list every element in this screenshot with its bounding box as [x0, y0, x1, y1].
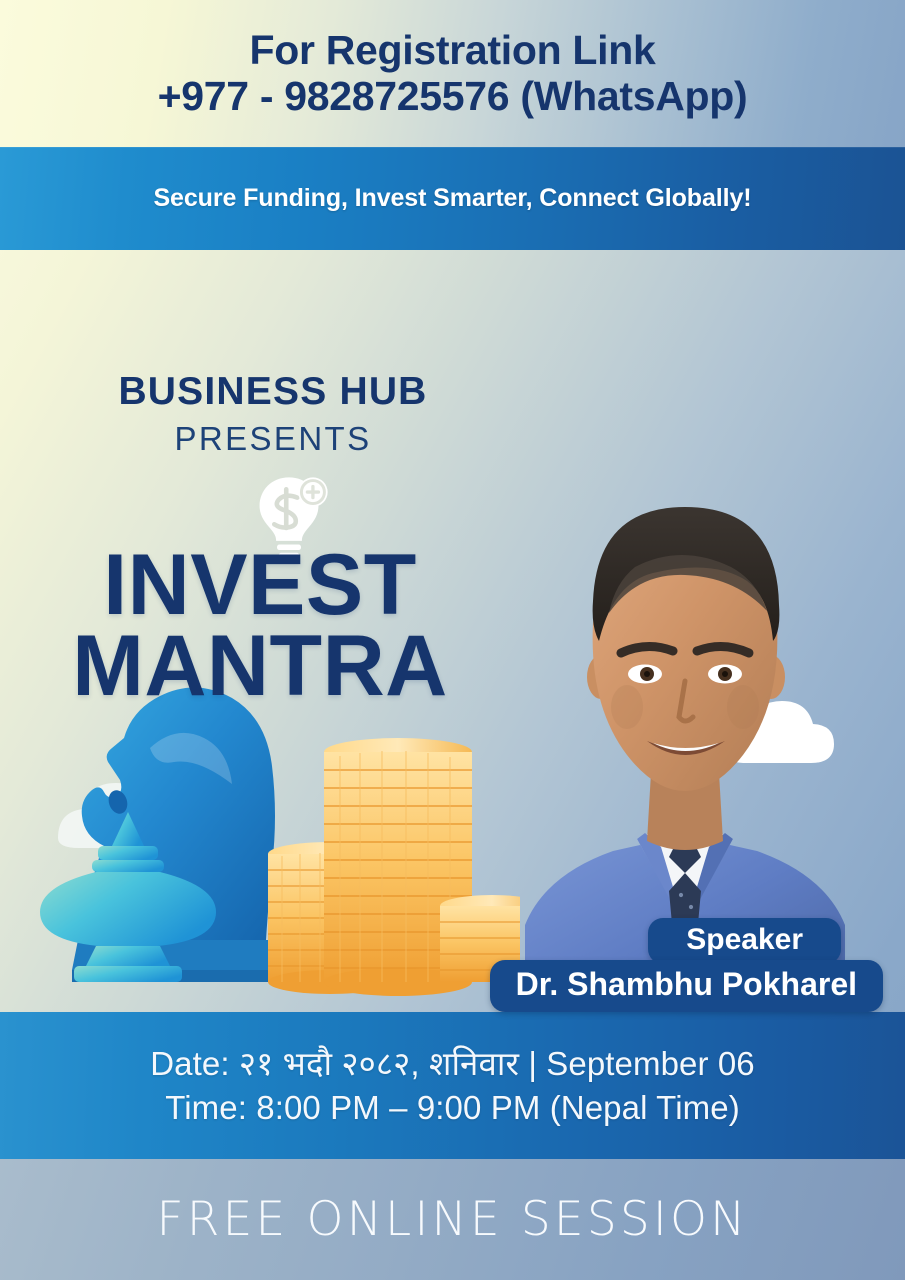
coin-stacks-icon	[268, 738, 520, 996]
schedule-band: Date: २१ भदौ २०८२, शनिवार | September 06…	[0, 1012, 905, 1159]
speaker-name-badge: Dr. Shambhu Pokharel	[490, 960, 883, 1012]
footer-text: FREE ONLINE SESSION	[156, 1192, 748, 1247]
brand-block: BUSINESS HUB PRESENTS	[58, 372, 488, 459]
event-title: INVEST MANTRA	[0, 545, 520, 707]
poster-canvas: For Registration Link +977 - 9828725576 …	[0, 0, 905, 1280]
brand-name: BUSINESS HUB	[58, 372, 488, 411]
brand-presents: PRESENTS	[58, 418, 488, 459]
event-title-line-1: INVEST	[0, 545, 520, 626]
speaker-badge-group: Speaker Dr. Shambhu Pokharel	[490, 918, 883, 1012]
speaker-label-badge: Speaker	[648, 918, 841, 964]
footer-band: FREE ONLINE SESSION	[0, 1159, 905, 1280]
schedule-time: Time: 8:00 PM – 9:00 PM (Nepal Time)	[165, 1086, 740, 1130]
schedule-date: Date: २१ भदौ २०८२, शनिवार | September 06	[150, 1042, 755, 1086]
event-title-line-2: MANTRA	[0, 626, 520, 707]
